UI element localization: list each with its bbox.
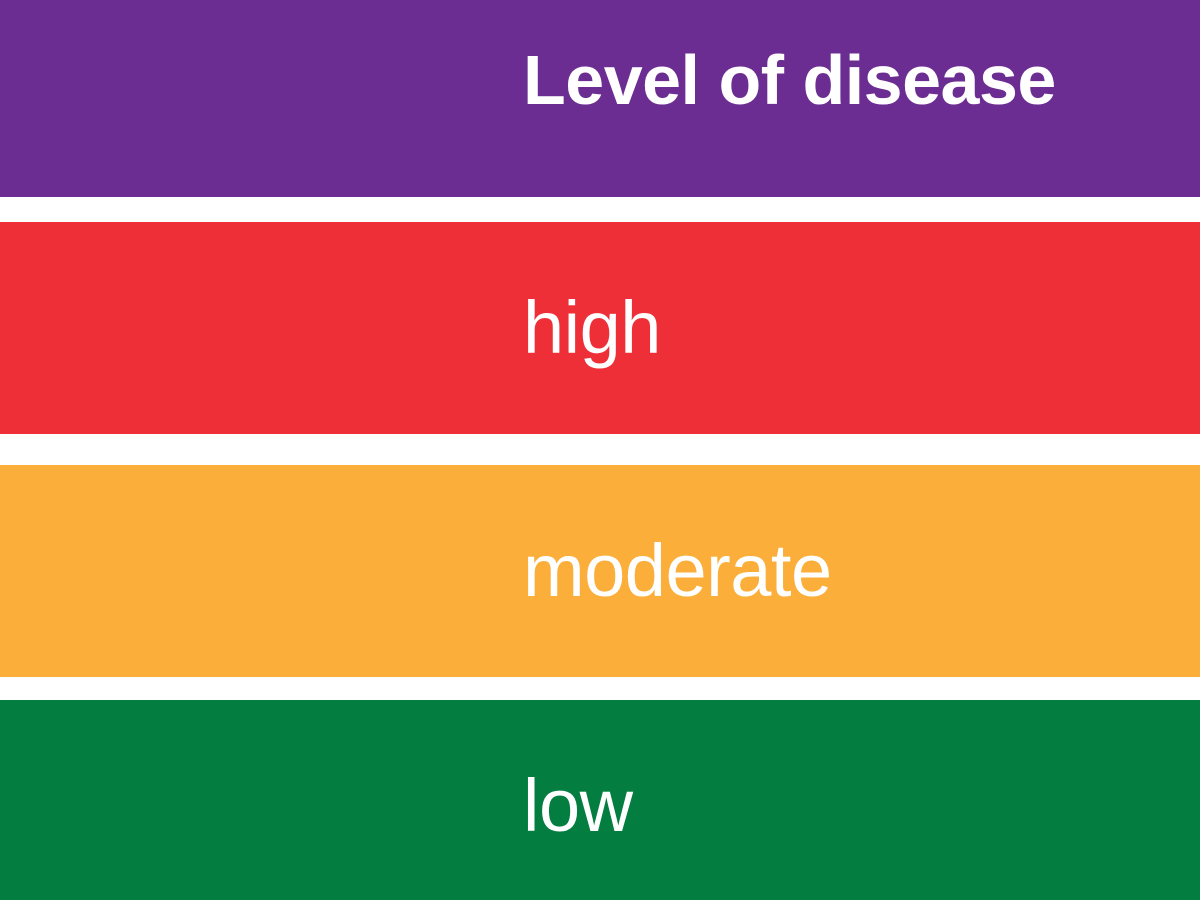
cell-level-moderate: moderate — [523, 534, 1200, 608]
table-row: moderate — [0, 465, 1200, 677]
table-header-row: score Level of disease — [0, 0, 1200, 197]
column-header-score: score — [0, 45, 523, 115]
cell-level-high: high — [523, 291, 1200, 365]
column-header-level-of-disease: Level of disease — [523, 45, 1200, 115]
table-viewport: score Level of disease high moderate low — [0, 0, 1200, 900]
cell-level-low: low — [523, 769, 1200, 843]
table-row: low — [0, 700, 1200, 900]
table-row: high — [0, 222, 1200, 434]
